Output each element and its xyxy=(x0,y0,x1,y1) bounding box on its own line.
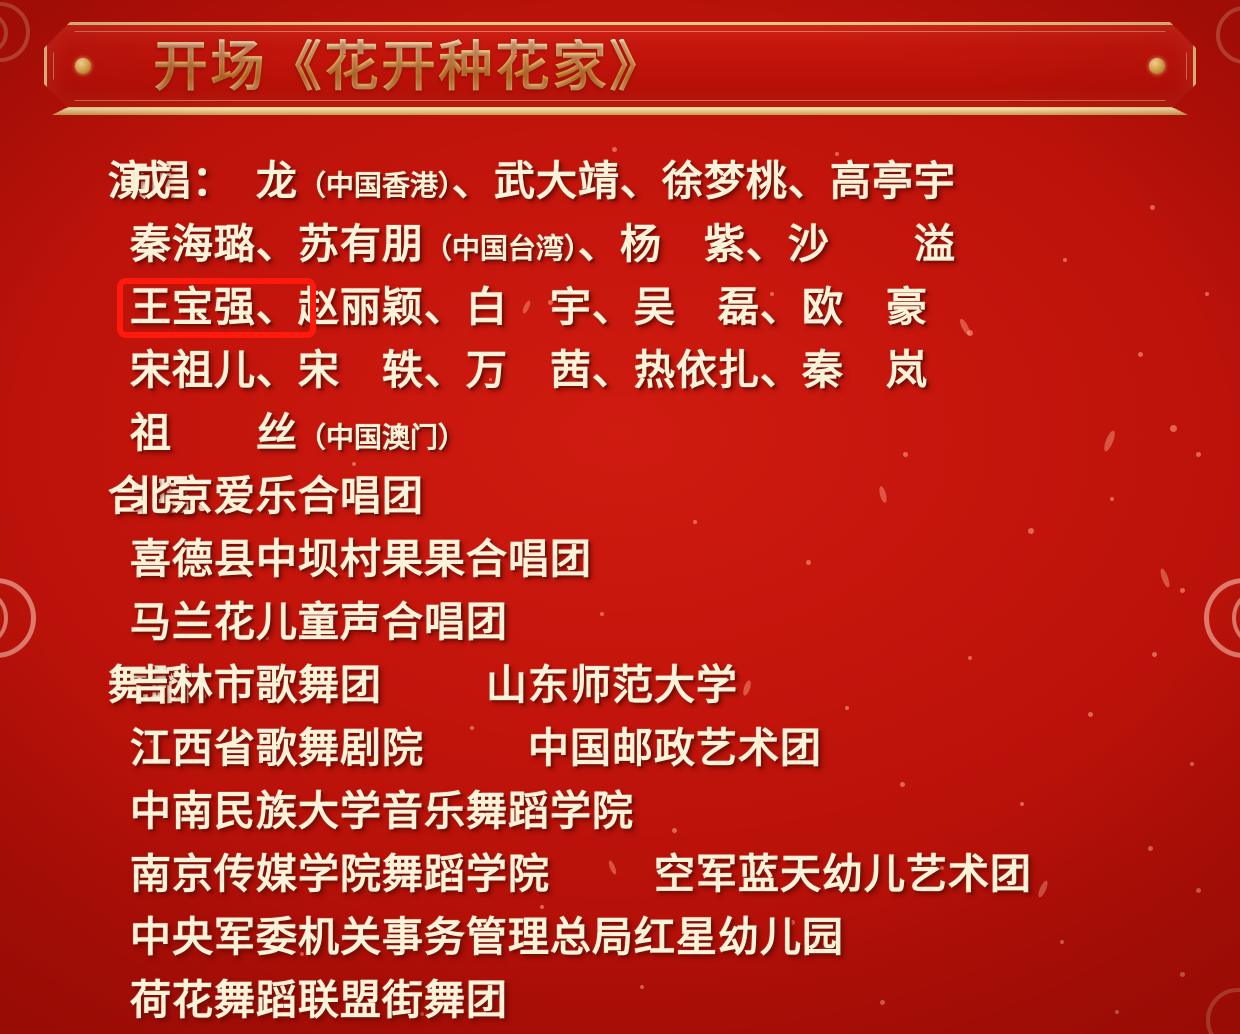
credit-text: 喜德县中坝村果果合唱团 xyxy=(130,535,592,583)
credit-row: 中央军委机关事务管理总局红星幼儿园 xyxy=(0,906,1240,969)
credit-text-right: 中国邮政艺术团 xyxy=(528,717,822,780)
credit-text: （中国澳门） xyxy=(298,421,466,454)
credit-body: 喜德县中坝村果果合唱团 xyxy=(118,528,1240,591)
credit-row: 南京传媒学院舞蹈学院空军蓝天幼儿艺术团 xyxy=(0,843,1240,906)
credit-row: 王宝强、赵丽颖、白 宇、吴 磊、欧 豪 xyxy=(0,276,1240,339)
credit-text: 、武大靖、徐梦桃、高亭宇 xyxy=(452,157,956,205)
credit-row: 马兰花儿童声合唱团 xyxy=(0,591,1240,654)
banner-underline-decoration xyxy=(52,108,1188,115)
credit-label: 舞蹈： xyxy=(0,654,118,717)
credit-label: 演唱： xyxy=(0,150,118,213)
credit-text-left: 江西省歌舞剧院 xyxy=(130,724,424,772)
credit-row: 宋祖儿、宋 轶、万 茜、热依扎、秦 岚 xyxy=(0,339,1240,402)
credit-body: 中央军委机关事务管理总局红星幼儿园 xyxy=(118,906,1240,969)
credit-text-left: 中央军委机关事务管理总局红星幼儿园 xyxy=(130,913,844,961)
credit-text-right: 空军蓝天幼儿艺术团 xyxy=(654,843,1032,906)
credit-text: 、杨 紫、沙 溢 xyxy=(578,220,956,268)
credit-text: 北京爱乐合唱团 xyxy=(130,472,424,520)
credit-text-right: 山东师范大学 xyxy=(486,654,738,717)
credit-row: 江西省歌舞剧院中国邮政艺术团 xyxy=(0,717,1240,780)
top-right-swirl-ornament xyxy=(1216,6,1240,64)
credit-text-left: 南京传媒学院舞蹈学院 xyxy=(130,850,550,898)
credit-text-left: 吉林市歌舞团 xyxy=(130,661,382,709)
program-title: 开场《花开种花家》 xyxy=(154,39,667,93)
credit-text: 马兰花儿童声合唱团 xyxy=(130,598,508,646)
credit-body: 江西省歌舞剧院中国邮政艺术团 xyxy=(118,717,1240,780)
gold-dot-icon-left xyxy=(75,58,91,74)
credit-label: 合唱： xyxy=(0,465,118,528)
credit-body: 马兰花儿童声合唱团 xyxy=(118,591,1240,654)
credit-text: 赵丽颖、白 宇、吴 磊、欧 豪 xyxy=(298,283,928,331)
top-left-swirl-ornament xyxy=(0,2,30,62)
credit-row: 合唱：北京爱乐合唱团 xyxy=(0,465,1240,528)
credit-text: （中国台湾） xyxy=(424,232,578,265)
credit-row: 喜德县中坝村果果合唱团 xyxy=(0,528,1240,591)
credit-text: 王宝强、 xyxy=(130,283,298,331)
credit-text-left: 中南民族大学音乐舞蹈学院 xyxy=(130,787,634,835)
credit-text: 祖 丝 xyxy=(130,409,298,457)
credits-list: 演唱：成 龙（中国香港）、武大靖、徐梦桃、高亭宇秦海璐、苏有朋（中国台湾）、杨 … xyxy=(0,150,1240,1032)
credit-body: 宋祖儿、宋 轶、万 茜、热依扎、秦 岚 xyxy=(118,339,1240,402)
credit-body: 祖 丝（中国澳门） xyxy=(118,402,1240,469)
credit-text: 秦海璐、苏有朋 xyxy=(130,220,424,268)
credit-row: 中南民族大学音乐舞蹈学院 xyxy=(0,780,1240,843)
credit-body: 王宝强、赵丽颖、白 宇、吴 磊、欧 豪 xyxy=(118,276,1240,339)
credit-body: 北京爱乐合唱团 xyxy=(118,465,1240,528)
gold-dot-icon-right xyxy=(1149,58,1165,74)
program-credits-screen: 开场《花开种花家》 演唱：成 龙（中国香港）、武大靖、徐梦桃、高亭宇秦海璐、苏有… xyxy=(0,0,1240,1034)
credit-text-left: 荷花舞蹈联盟街舞团 xyxy=(130,976,508,1024)
credit-body: 中南民族大学音乐舞蹈学院 xyxy=(118,780,1240,843)
credit-row: 舞蹈：吉林市歌舞团山东师范大学 xyxy=(0,654,1240,717)
credit-text: 宋祖儿、宋 轶、万 茜、热依扎、秦 岚 xyxy=(130,346,928,394)
program-title-banner: 开场《花开种花家》 xyxy=(44,22,1196,110)
credit-body: 成 龙（中国香港）、武大靖、徐梦桃、高亭宇 xyxy=(118,150,1240,217)
credit-body: 南京传媒学院舞蹈学院空军蓝天幼儿艺术团 xyxy=(118,843,1240,906)
credit-row: 秦海璐、苏有朋（中国台湾）、杨 紫、沙 溢 xyxy=(0,213,1240,276)
top-left-swirl-ornament-inner xyxy=(0,12,8,54)
credit-body: 秦海璐、苏有朋（中国台湾）、杨 紫、沙 溢 xyxy=(118,213,1240,280)
credit-row: 演唱：成 龙（中国香港）、武大靖、徐梦桃、高亭宇 xyxy=(0,150,1240,213)
credit-body: 荷花舞蹈联盟街舞团 xyxy=(118,969,1240,1032)
credit-body: 吉林市歌舞团山东师范大学 xyxy=(118,654,1240,717)
highlighted-performer[interactable]: 王宝强、 xyxy=(130,276,298,339)
credit-text: 成 龙 xyxy=(130,157,298,205)
credit-row: 荷花舞蹈联盟街舞团 xyxy=(0,969,1240,1032)
credit-row: 祖 丝（中国澳门） xyxy=(0,402,1240,465)
credit-text: （中国香港） xyxy=(298,169,452,202)
